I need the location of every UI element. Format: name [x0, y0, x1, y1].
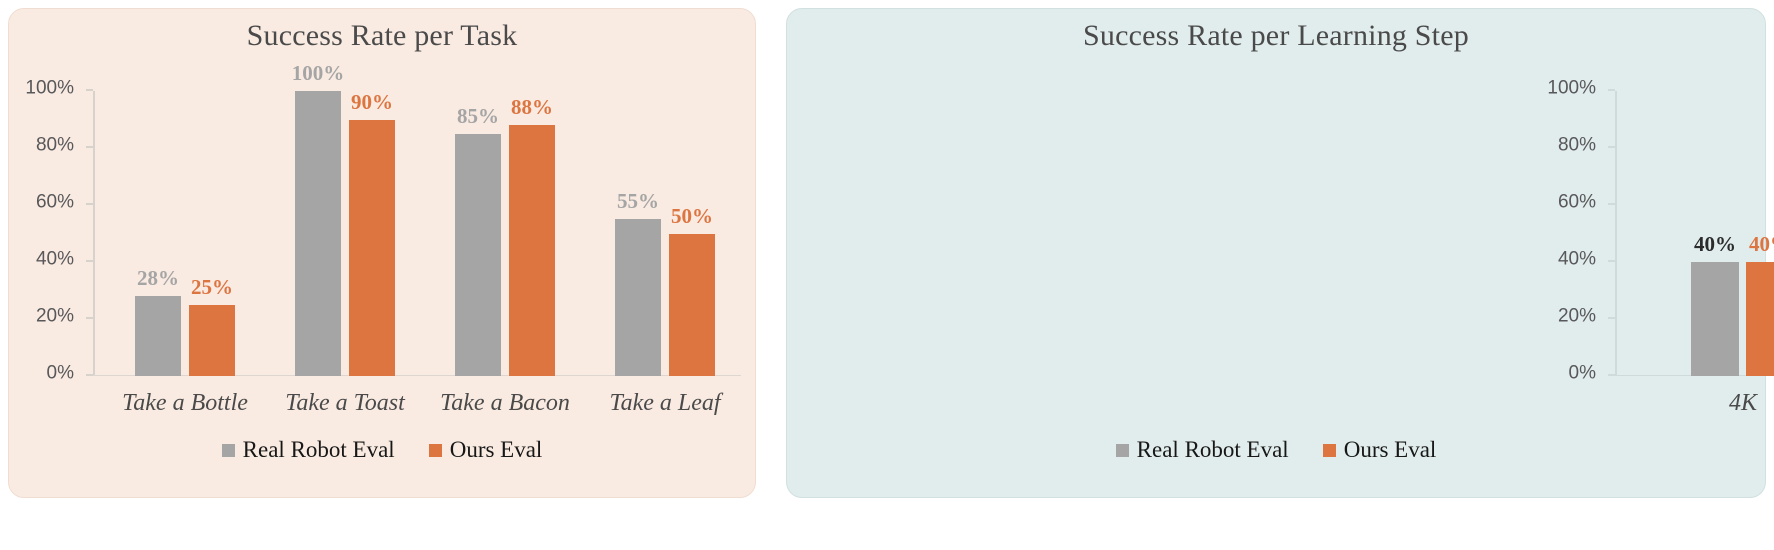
- bar-group-take-a-leaf: 55% 50% Take a Leaf: [595, 91, 745, 376]
- bar-left-gray-2[interactable]: 85%: [455, 134, 501, 376]
- y-tick-label-left-0: 0%: [47, 363, 74, 385]
- bar-left-orange-2[interactable]: 88%: [509, 125, 555, 376]
- bar-group-take-a-toast: 100% 90% Take a Toast: [275, 91, 425, 376]
- y-tick-label-right-20: 20%: [1558, 306, 1596, 328]
- y-axis-line-left: [93, 91, 95, 376]
- y-tick-left-20: 20%: [86, 317, 93, 319]
- y-tick-left-80: 80%: [86, 146, 93, 148]
- bar-left-orange-0[interactable]: 25%: [189, 305, 235, 376]
- page-title-right: Success Rate per Learning Step: [787, 19, 1765, 53]
- bar-left-gray-1[interactable]: 100%: [295, 91, 341, 376]
- y-tick-left-40: 40%: [86, 260, 93, 262]
- legend-label-real-robot-eval-right: Real Robot Eval: [1137, 437, 1289, 463]
- legend-item-ours-eval-left[interactable]: Ours Eval: [429, 437, 543, 463]
- bar-left-orange-1[interactable]: 90%: [349, 120, 395, 377]
- y-tick-right-60: 60%: [1608, 203, 1615, 205]
- x-tick-label-left-0: Take a Bottle: [122, 390, 248, 417]
- y-tick-right-100: 100%: [1608, 89, 1615, 91]
- y-tick-label-right-40: 40%: [1558, 249, 1596, 271]
- y-tick-label-left-40: 40%: [36, 249, 74, 271]
- bar-value-label-left-gray-0: 28%: [137, 266, 179, 291]
- bar-value-label-right-orange-0: 40%: [1749, 232, 1774, 257]
- legend-item-ours-eval-right[interactable]: Ours Eval: [1323, 437, 1437, 463]
- y-axis-line-right: [1615, 91, 1617, 376]
- bar-group-4k: 40% 40% 4K: [1649, 91, 1774, 376]
- y-tick-right-0: 0%: [1608, 374, 1615, 376]
- y-tick-label-right-0: 0%: [1569, 363, 1596, 385]
- y-tick-label-left-60: 60%: [36, 192, 74, 214]
- bar-left-orange-3[interactable]: 50%: [669, 234, 715, 377]
- bar-value-label-left-orange-3: 50%: [671, 204, 713, 229]
- legend-right: Real Robot Eval Ours Eval: [787, 437, 1765, 463]
- bar-value-label-left-gray-2: 85%: [457, 104, 499, 129]
- bar-value-label-left-gray-3: 55%: [617, 189, 659, 214]
- figure-root: Success Rate per Task 0% 20% 40% 60% 80%…: [0, 0, 1774, 550]
- legend-item-real-robot-eval-right[interactable]: Real Robot Eval: [1116, 437, 1289, 463]
- y-tick-label-right-80: 80%: [1558, 135, 1596, 157]
- x-tick-label-left-1: Take a Toast: [285, 390, 405, 417]
- y-tick-label-right-60: 60%: [1558, 192, 1596, 214]
- y-tick-label-left-100: 100%: [25, 78, 74, 100]
- x-tick-label-left-3: Take a Leaf: [609, 390, 720, 417]
- y-tick-right-20: 20%: [1608, 317, 1615, 319]
- bar-value-label-left-orange-1: 90%: [351, 90, 393, 115]
- bar-left-gray-0[interactable]: 28%: [135, 296, 181, 376]
- y-tick-label-left-20: 20%: [36, 306, 74, 328]
- legend-item-real-robot-eval-left[interactable]: Real Robot Eval: [222, 437, 395, 463]
- x-tick-label-left-2: Take a Bacon: [440, 390, 570, 417]
- legend-swatch-icon-orange-left: [429, 444, 442, 457]
- y-tick-left-0: 0%: [86, 374, 93, 376]
- bar-right-gray-0[interactable]: 40%: [1691, 262, 1739, 376]
- chart-panel-left: Success Rate per Task 0% 20% 40% 60% 80%…: [8, 8, 756, 498]
- y-tick-right-80: 80%: [1608, 146, 1615, 148]
- y-tick-label-right-100: 100%: [1547, 78, 1596, 100]
- y-tick-right-40: 40%: [1608, 260, 1615, 262]
- y-tick-left-100: 100%: [86, 89, 93, 91]
- plot-area-right: 0% 20% 40% 60% 80% 100% 40% 40% 4K: [1615, 91, 1774, 376]
- bar-group-take-a-bacon: 85% 88% Take a Bacon: [435, 91, 585, 376]
- x-tick-label-right-0: 4K: [1729, 390, 1757, 417]
- legend-label-ours-eval-left: Ours Eval: [450, 437, 543, 463]
- bar-value-label-right-gray-0: 40%: [1694, 232, 1736, 257]
- bar-value-label-left-orange-2: 88%: [511, 95, 553, 120]
- bar-group-take-a-bottle: 28% 25% Take a Bottle: [115, 91, 265, 376]
- legend-label-real-robot-eval-left: Real Robot Eval: [243, 437, 395, 463]
- legend-label-ours-eval-right: Ours Eval: [1344, 437, 1437, 463]
- page-title-left: Success Rate per Task: [9, 19, 755, 53]
- y-tick-left-60: 60%: [86, 203, 93, 205]
- chart-panel-right: Success Rate per Learning Step 0% 20% 40…: [786, 8, 1766, 498]
- bar-value-label-left-gray-1: 100%: [292, 61, 345, 86]
- legend-swatch-icon-gray-left: [222, 444, 235, 457]
- bar-left-gray-3[interactable]: 55%: [615, 219, 661, 376]
- legend-swatch-icon-orange-right: [1323, 444, 1336, 457]
- bar-right-orange-0[interactable]: 40%: [1746, 262, 1774, 376]
- bar-value-label-left-orange-0: 25%: [191, 275, 233, 300]
- legend-swatch-icon-gray-right: [1116, 444, 1129, 457]
- legend-left: Real Robot Eval Ours Eval: [9, 437, 755, 463]
- plot-area-left: 0% 20% 40% 60% 80% 100% 28% 25% Take a B…: [93, 91, 741, 376]
- y-tick-label-left-80: 80%: [36, 135, 74, 157]
